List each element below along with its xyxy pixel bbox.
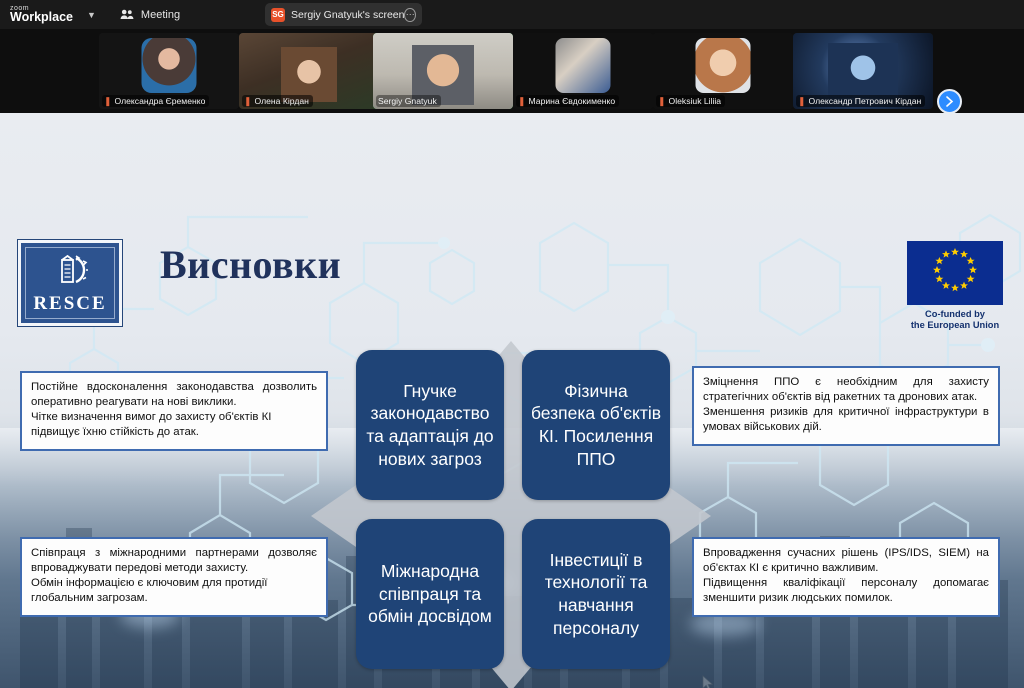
conclusion-box-4: Інвестиції в технології та навчання перс… [522, 519, 670, 669]
participant-name: Олена Кірдан [255, 96, 309, 106]
mic-muted-icon: ❚ [244, 97, 252, 106]
presenter-initials-badge: SG [271, 8, 285, 22]
next-participants-button[interactable] [937, 89, 962, 114]
zoom-logo-big: Workplace [10, 11, 73, 24]
participant-tile-0[interactable]: ❚ Олександра Єременко [99, 33, 239, 109]
meeting-label: Meeting [141, 9, 180, 21]
mic-muted-icon: ❚ [798, 97, 806, 106]
participant-name: Олександр Петрович Кірдан [809, 96, 922, 106]
note-top-left: Постійне вдосконалення законодавства доз… [20, 371, 328, 451]
participant-tile-4[interactable]: ❚ Oleksiuk Liliia [653, 33, 793, 109]
meeting-tab[interactable]: Meeting [120, 9, 180, 21]
eu-caption-line2: the European Union [907, 320, 1003, 331]
note-bottom-right: Впровадження сучасних рішень (IPS/IDS, S… [692, 537, 1000, 617]
avatar [696, 38, 751, 93]
participant-name: Oleksiuk Liliia [669, 96, 722, 106]
note-paragraph: Обмін інформацією є ключовим для протиді… [31, 576, 317, 606]
participant-nametag: ❚ Марина Євдокименко [516, 95, 619, 107]
note-paragraph: Підвищення кваліфікації персоналу допома… [703, 576, 989, 606]
mic-muted-icon: ❚ [518, 97, 526, 106]
people-icon [120, 9, 134, 20]
note-paragraph: Зменшення ризиків для критичної інфрастр… [703, 405, 989, 435]
participant-tile-3[interactable]: ❚ Марина Євдокименко [513, 33, 653, 109]
page-title: Висновки [160, 241, 341, 288]
participant-strip: ❚ Олександра Єременко ❚ Олена Кірдан Ser… [0, 29, 1024, 113]
participant-tile-1[interactable]: ❚ Олена Кірдан [239, 33, 379, 109]
avatar [142, 38, 197, 93]
mic-muted-icon: ❚ [658, 97, 666, 106]
participant-nametag: ❚ Олександр Петрович Кірдан [796, 95, 925, 107]
chevron-right-icon [945, 96, 954, 107]
more-options-icon[interactable]: ⋯ [404, 8, 416, 22]
participant-tile-5[interactable]: ❚ Олександр Петрович Кірдан [793, 33, 933, 109]
mic-muted-icon: ❚ [104, 97, 112, 106]
shared-slide: RESCE Висновки [0, 113, 1024, 688]
participant-nametag: ❚ Олександра Єременко [102, 95, 209, 107]
conclusion-box-1: Гнучке законодавство та адаптація до нов… [356, 350, 504, 500]
eu-caption-line1: Co-funded by [907, 309, 1003, 320]
participant-nametag: Sergiy Gnatyuk [376, 95, 441, 107]
screen-share-indicator[interactable]: SG Sergiy Gnatyuk's screen ⋯ [265, 3, 422, 26]
resce-logo: RESCE [18, 240, 122, 326]
zoom-logo: zoom Workplace [10, 5, 73, 24]
eu-logo-caption: Co-funded by the European Union [907, 309, 1003, 331]
note-paragraph: Впровадження сучасних рішень (IPS/IDS, S… [703, 546, 989, 576]
avatar [281, 47, 337, 102]
participant-name: Sergiy Gnatyuk [378, 96, 437, 106]
note-paragraph: Співпраця з міжнародними партнерами дозв… [31, 546, 317, 576]
screen-share-label: Sergiy Gnatyuk's screen [291, 9, 404, 21]
note-paragraph: Чітке визначення вимог до захисту об'єкт… [31, 410, 317, 440]
participant-nametag: ❚ Oleksiuk Liliia [656, 95, 725, 107]
note-paragraph: Зміцнення ППО є необхідним для захисту с… [703, 375, 989, 405]
conclusion-box-3: Міжнародна співпраця та обмін досвідом [356, 519, 504, 669]
participant-tile-2[interactable]: Sergiy Gnatyuk [373, 33, 513, 109]
eu-funding-logo: Co-funded by the European Union [907, 241, 1003, 331]
participant-nametag: ❚ Олена Кірдан [242, 95, 313, 107]
conclusion-box-2: Фізична безпека об'єктів КІ. Посилення П… [522, 350, 670, 500]
note-bottom-left: Співпраця з міжнародними партнерами дозв… [20, 537, 328, 617]
note-top-right: Зміцнення ППО є необхідним для захисту с… [692, 366, 1000, 446]
participant-name: Марина Євдокименко [529, 96, 616, 106]
avatar [828, 43, 898, 98]
note-paragraph: Постійне вдосконалення законодавства доз… [31, 380, 317, 410]
resce-logo-inner-border [25, 247, 115, 319]
avatar [556, 38, 611, 93]
eu-flag-icon [907, 241, 1003, 305]
zoom-top-bar: zoom Workplace ▼ Meeting SG Sergiy Gnaty… [0, 0, 1024, 29]
chevron-down-icon[interactable]: ▼ [87, 10, 96, 20]
mouse-cursor-icon [702, 675, 714, 688]
participant-name: Олександра Єременко [115, 96, 206, 106]
